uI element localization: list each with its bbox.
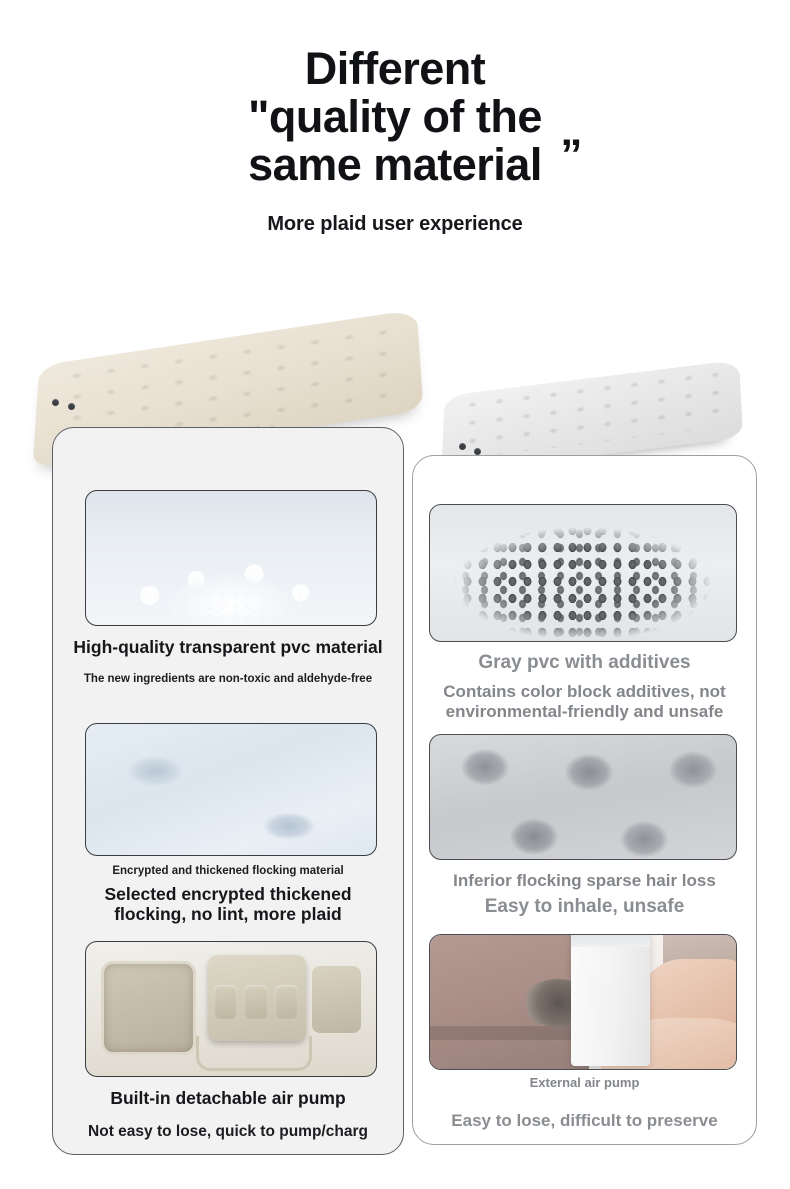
built-in-pump-photo	[85, 941, 377, 1077]
open-quote-mark: "	[248, 91, 269, 142]
inferior-flocking-photo	[429, 734, 737, 860]
ours-block2-title: Selected encrypted thickened flocking, n…	[71, 885, 385, 924]
competitor-block3-title: Easy to lose, difficult to preserve	[413, 1111, 756, 1130]
competitor-block2-caption: Inferior flocking sparse hair loss	[413, 871, 756, 891]
competitor-block1-caption: Contains color block additives, not envi…	[427, 682, 742, 722]
page-title-line2-text: quality of the	[269, 91, 542, 142]
gray-pvc-pellets-photo	[429, 504, 737, 642]
comparison-panel-ours: High-quality transparent pvc material Th…	[52, 427, 404, 1155]
ours-block1-caption: The new ingredients are non-toxic and al…	[53, 673, 403, 687]
competitor-block2-title: Easy to inhale, unsafe	[413, 896, 756, 917]
transparent-pvc-granules-photo	[85, 490, 377, 626]
competitor-block3-caption: External air pump	[413, 1076, 756, 1089]
close-quote-mark: „	[560, 107, 582, 154]
comparison-panel-competitor: Gray pvc with additives Contains color b…	[412, 455, 757, 1145]
page-title-line1: Different	[0, 45, 790, 93]
ours-block2-caption: Encrypted and thickened flocking materia…	[53, 865, 403, 879]
header: Different "quality of the„ same material…	[0, 0, 790, 236]
page-title-line3: same material	[0, 141, 790, 189]
external-pump-photo	[429, 934, 737, 1070]
competitor-block1-title: Gray pvc with additives	[413, 652, 756, 673]
page-title-line2: "quality of the„	[248, 93, 542, 141]
ours-block3-caption: Not easy to lose, quick to pump/charg	[53, 1123, 403, 1141]
ours-block3-title: Built-in detachable air pump	[53, 1089, 403, 1109]
ours-block1-title: High-quality transparent pvc material	[53, 638, 403, 658]
encrypted-flocking-photo	[85, 723, 377, 856]
page-subtitle: More plaid user experience	[0, 213, 790, 236]
